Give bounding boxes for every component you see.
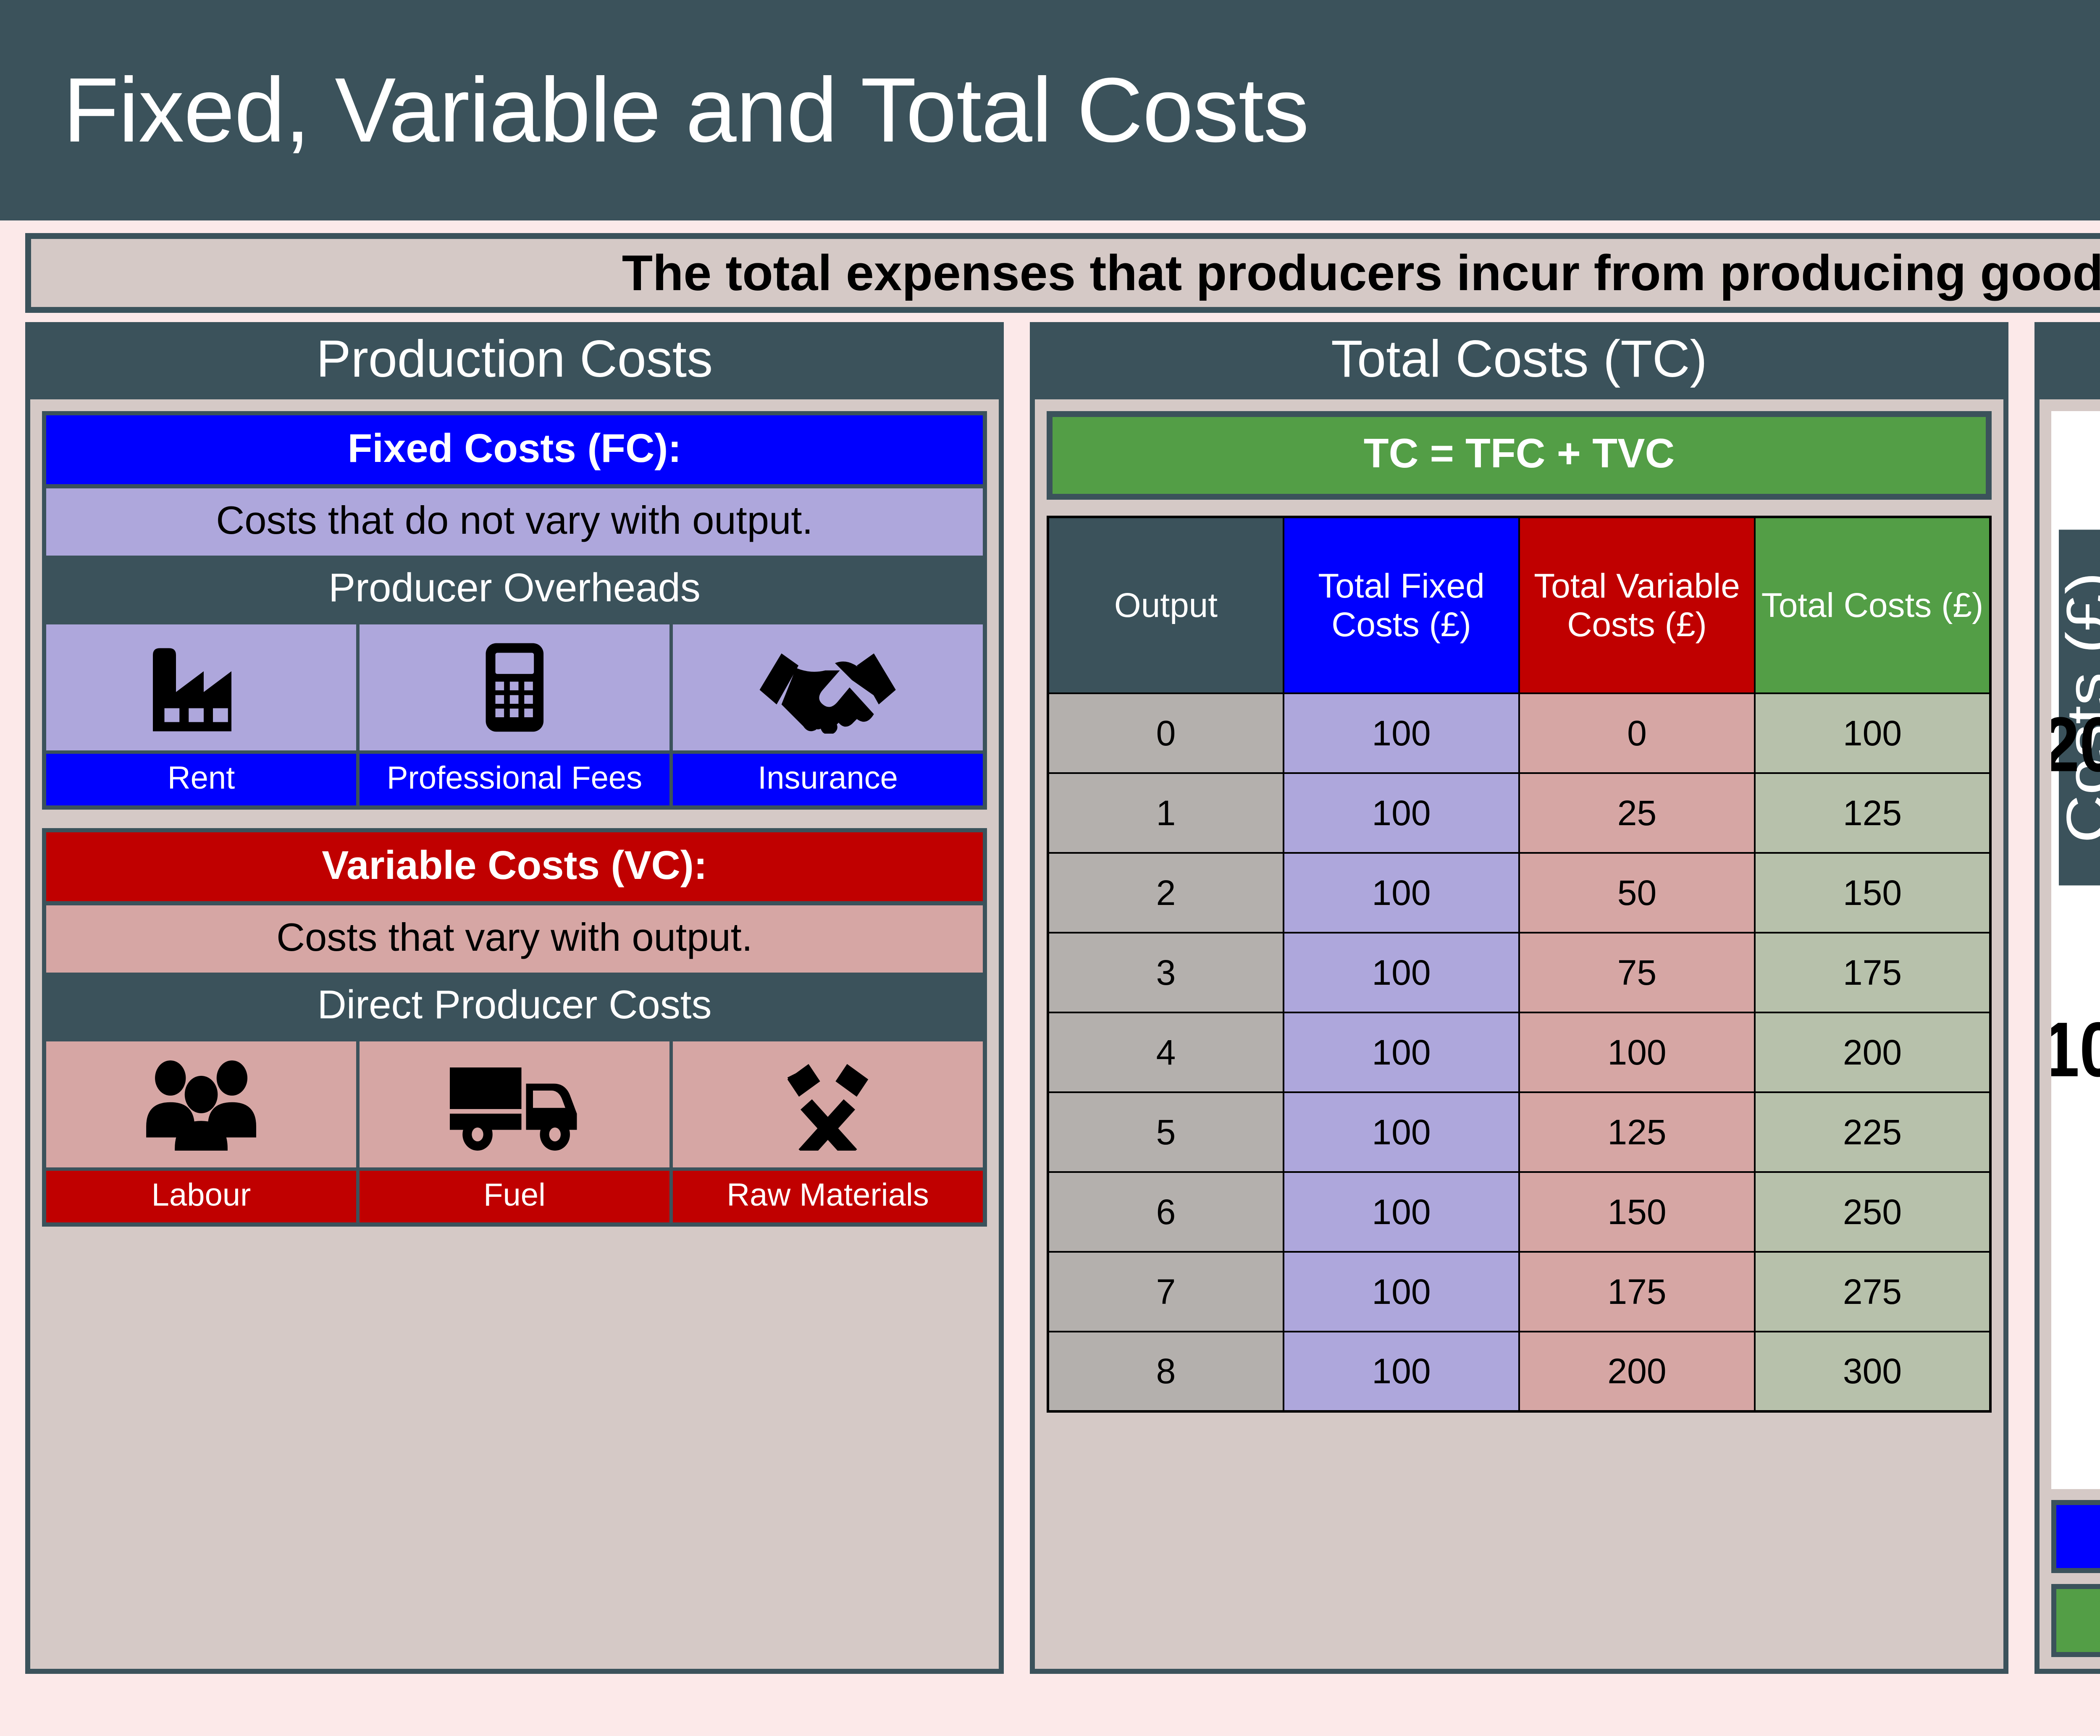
production-costs-body: Fixed Costs (FC): Costs that do not vary… — [25, 399, 1004, 1674]
cell-output: 5 — [1048, 1092, 1284, 1172]
cell-output: 3 — [1048, 933, 1284, 1012]
cell-tfc: 100 — [1284, 933, 1519, 1012]
truck-icon — [445, 1058, 584, 1151]
cell-output: 8 — [1048, 1332, 1284, 1411]
panel-title-total-costs: Total Costs (TC) — [1030, 322, 2008, 399]
calculator-icon — [484, 641, 546, 734]
fixed-cost-label-rent: Rent — [46, 754, 360, 805]
fixed-costs-block: Fixed Costs (FC): Costs that do not vary… — [42, 411, 987, 810]
cell-tc: 175 — [1755, 933, 1990, 1012]
chart-svg: Costs (£) — [2051, 411, 2100, 1489]
hammer-axe-icon — [782, 1058, 874, 1151]
cell-output: 4 — [1048, 1012, 1284, 1092]
table-row: 6 100 150 250 — [1048, 1172, 1990, 1252]
panel-cost-curves: Cost Curves (£) Costs (£) — [2034, 322, 2100, 1674]
hammer-axe-icon-cell — [673, 1041, 983, 1167]
cell-output: 0 — [1048, 693, 1284, 773]
table-row: 8 100 200 300 — [1048, 1332, 1990, 1411]
fixed-cost-label-insurance: Insurance — [673, 754, 983, 805]
people-group-icon — [141, 1058, 262, 1151]
cell-tvc: 50 — [1519, 853, 1755, 933]
cell-tfc: 100 — [1284, 1332, 1519, 1411]
fixed-costs-heading: Fixed Costs (FC): — [46, 415, 983, 484]
table-row: 0 100 0 100 — [1048, 693, 1990, 773]
table-row: 3 100 75 175 — [1048, 933, 1990, 1012]
subtitle-bar: The total expenses that producers incur … — [25, 233, 2100, 313]
cost-table-body: 0 100 0 100 1 100 25 125 2 100 50 — [1048, 693, 1990, 1411]
page-title: Fixed, Variable and Total Costs — [63, 58, 1309, 163]
cell-output: 1 — [1048, 773, 1284, 853]
note-tfc: TFC Curve fixed at £100 for all output l… — [2051, 1500, 2100, 1573]
cell-tfc: 100 — [1284, 1252, 1519, 1332]
page-header: Fixed, Variable and Total Costs EZY ECON… — [0, 0, 2100, 220]
note-tc: TC Curve fixed at £100 above TVC curve. — [2051, 1584, 2100, 1657]
fixed-cost-label-professional-fees: Professional Fees — [360, 754, 673, 805]
cell-tfc: 100 — [1284, 1012, 1519, 1092]
variable-costs-definition: Costs that vary with output. — [46, 901, 983, 973]
variable-cost-label-fuel: Fuel — [360, 1171, 673, 1222]
variable-costs-heading: Variable Costs (VC): — [46, 832, 983, 901]
people-group-icon-cell — [46, 1041, 360, 1167]
variable-costs-label-row: Labour Fuel Raw Materials — [46, 1167, 983, 1222]
cell-tfc: 100 — [1284, 693, 1519, 773]
panel-production-costs: Production Costs Fixed Costs (FC): Costs… — [25, 322, 1004, 1674]
total-costs-body: TC = TFC + TVC Output Total Fixed Costs … — [1030, 399, 2008, 1674]
handshake-icon-cell — [673, 624, 983, 750]
fixed-costs-subheading: Producer Overheads — [46, 556, 983, 624]
cell-tvc: 0 — [1519, 693, 1755, 773]
tc-formula: TC = TFC + TVC — [1047, 411, 1992, 500]
variable-costs-block: Variable Costs (VC): Costs that vary wit… — [42, 828, 987, 1227]
cost-curves-body: Costs (£) — [2034, 399, 2100, 1674]
panel-title-cost-curves: Cost Curves (£) — [2034, 322, 2100, 399]
cell-tfc: 100 — [1284, 773, 1519, 853]
y-tick-label-100: 100 — [2051, 1006, 2100, 1093]
cell-tc: 200 — [1755, 1012, 1990, 1092]
cell-tc: 300 — [1755, 1332, 1990, 1411]
table-row: 7 100 175 275 — [1048, 1252, 1990, 1332]
cost-table: Output Total Fixed Costs (£) Total Varia… — [1047, 516, 1992, 1413]
cell-tc: 250 — [1755, 1172, 1990, 1252]
cell-tfc: 100 — [1284, 853, 1519, 933]
cell-tfc: 100 — [1284, 1172, 1519, 1252]
cell-tc: 100 — [1755, 693, 1990, 773]
table-row: 1 100 25 125 — [1048, 773, 1990, 853]
cell-output: 6 — [1048, 1172, 1284, 1252]
subtitle-section: The total expenses that producers incur … — [0, 220, 2100, 322]
cell-tvc: 150 — [1519, 1172, 1755, 1252]
panel-title-production-costs: Production Costs — [25, 322, 1004, 399]
table-row: 2 100 50 150 — [1048, 853, 1990, 933]
cell-tvc: 125 — [1519, 1092, 1755, 1172]
variable-costs-icon-row — [46, 1041, 983, 1167]
column-header-output: Output — [1048, 517, 1284, 693]
fixed-costs-definition: Costs that do not vary with output. — [46, 484, 983, 556]
fixed-costs-icon-row — [46, 624, 983, 750]
column-header-total-fixed-costs: Total Fixed Costs (£) — [1284, 517, 1519, 693]
factory-icon — [144, 641, 259, 734]
cell-tc: 125 — [1755, 773, 1990, 853]
cost-curves-chart: Costs (£) — [2051, 411, 2100, 1489]
cell-tvc: 25 — [1519, 773, 1755, 853]
cell-output: 7 — [1048, 1252, 1284, 1332]
content-columns: Production Costs Fixed Costs (FC): Costs… — [0, 322, 2100, 1693]
subtitle-text: The total expenses that producers incur … — [622, 244, 2100, 302]
variable-cost-label-raw-materials: Raw Materials — [673, 1171, 983, 1222]
variable-cost-label-labour: Labour — [46, 1171, 360, 1222]
panel-total-costs: Total Costs (TC) TC = TFC + TVC Output T… — [1030, 322, 2008, 1674]
handshake-icon — [755, 641, 900, 734]
variable-costs-subheading: Direct Producer Costs — [46, 973, 983, 1041]
cell-tc: 150 — [1755, 853, 1990, 933]
cell-tvc: 75 — [1519, 933, 1755, 1012]
truck-icon-cell — [360, 1041, 673, 1167]
cell-tc: 225 — [1755, 1092, 1990, 1172]
y-tick-label-200: 200 — [2051, 701, 2100, 788]
column-header-total-costs: Total Costs (£) — [1755, 517, 1990, 693]
table-row: 5 100 125 225 — [1048, 1092, 1990, 1172]
cell-output: 2 — [1048, 853, 1284, 933]
cell-tc: 275 — [1755, 1252, 1990, 1332]
fixed-costs-label-row: Rent Professional Fees Insurance — [46, 750, 983, 805]
calculator-icon-cell — [360, 624, 673, 750]
cell-tvc: 100 — [1519, 1012, 1755, 1092]
factory-icon-cell — [46, 624, 360, 750]
cell-tvc: 200 — [1519, 1332, 1755, 1411]
table-row: 4 100 100 200 — [1048, 1012, 1990, 1092]
cell-tvc: 175 — [1519, 1252, 1755, 1332]
table-header-row: Output Total Fixed Costs (£) Total Varia… — [1048, 517, 1990, 693]
cell-tfc: 100 — [1284, 1092, 1519, 1172]
column-header-total-variable-costs: Total Variable Costs (£) — [1519, 517, 1755, 693]
